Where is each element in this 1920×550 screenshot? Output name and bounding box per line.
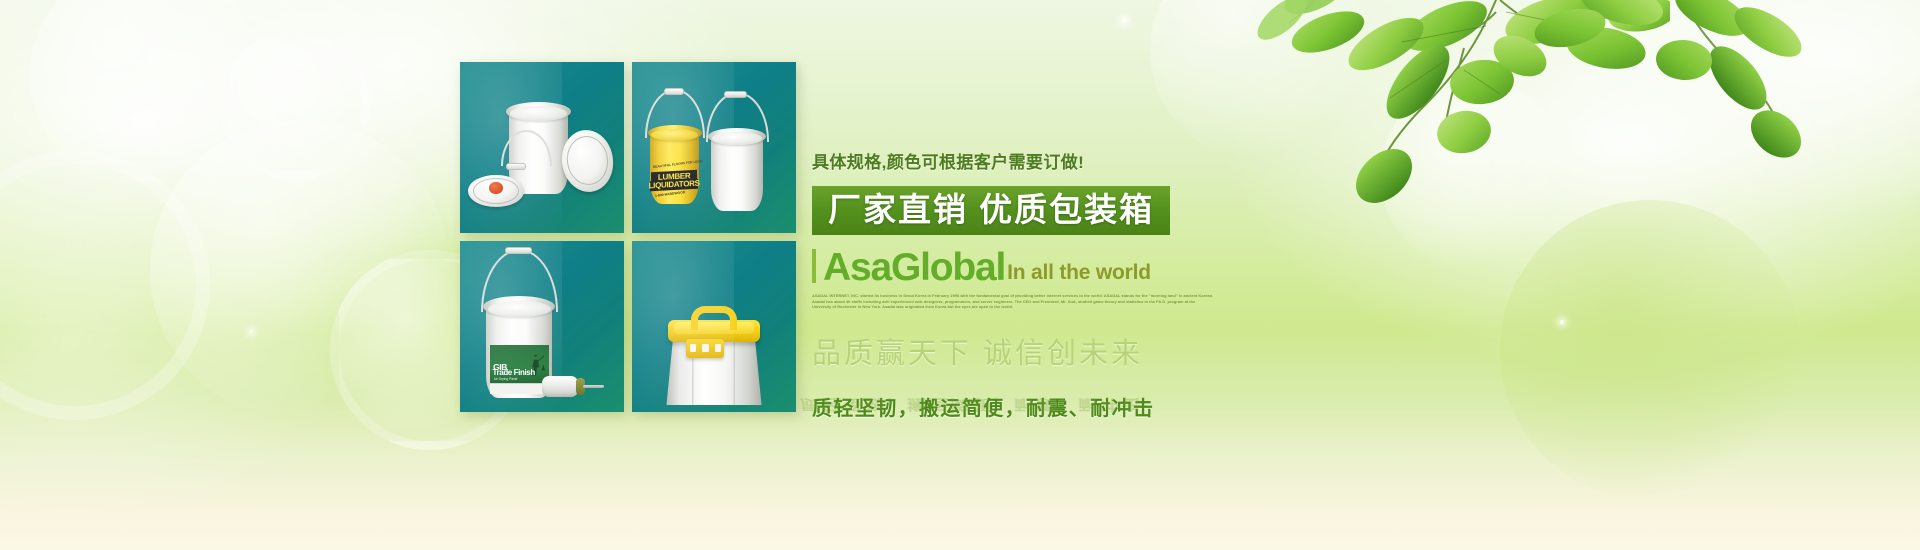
product-panel-open-pail-with-lids[interactable] bbox=[460, 62, 624, 233]
pail-opening bbox=[510, 106, 567, 121]
pail-brand-line2: LIQUIDATORS bbox=[649, 180, 700, 191]
panel-stage: BEAUTIFUL FLOORS FOR LESS! LUMBER LIQUID… bbox=[632, 62, 796, 233]
product-panel-gib-pail-with-roller[interactable]: GIB Trade Finish Air Drying Paste bbox=[460, 241, 624, 412]
brand-name-text: AsaGlobal bbox=[823, 250, 1005, 286]
feature-line-wrap: 质轻坚韧，搬运简便，耐震、耐冲击 质轻坚韧，搬运简便，耐震、耐冲击 bbox=[812, 392, 1452, 444]
brand-tagline-text: In all the world bbox=[1007, 262, 1151, 286]
pail-handle bbox=[706, 92, 769, 141]
tote-carry-handle bbox=[691, 306, 737, 330]
latch-slot bbox=[690, 344, 696, 352]
panel-stage bbox=[632, 241, 796, 412]
bokeh-ring bbox=[220, 30, 370, 180]
brand-accent-bar bbox=[812, 249, 816, 283]
handle-grip bbox=[724, 91, 747, 98]
marketing-copy-block: 具体规格,颜色可根据客户需要订做! 厂家直销 优质包装箱 AsaGlobal I… bbox=[812, 148, 1452, 444]
sparkle bbox=[1122, 18, 1127, 23]
tote-latch bbox=[686, 339, 724, 358]
white-pail bbox=[711, 134, 763, 211]
spec-note-text: 具体规格,颜色可根据客户需要订做! bbox=[812, 148, 1452, 173]
sparkle bbox=[250, 330, 253, 333]
handle-grip bbox=[506, 163, 526, 170]
red-spout-cap-icon bbox=[489, 182, 502, 194]
white-tote-box-yellow-lid bbox=[666, 306, 761, 405]
panel-stage bbox=[460, 62, 624, 233]
product-photo-grid: BEAUTIFUL FLOORS FOR LESS! LUMBER LIQUID… bbox=[460, 62, 796, 412]
headline-banner: 厂家直销 优质包装箱 bbox=[812, 186, 1170, 235]
promo-banner: BEAUTIFUL FLOORS FOR LESS! LUMBER LIQUID… bbox=[0, 0, 1920, 550]
brand-lockup: AsaGlobal In all the world bbox=[812, 249, 1452, 286]
handle-grip bbox=[664, 88, 685, 95]
company-about-paragraph: ASADAL INTERNET, INC. started its busine… bbox=[812, 293, 1214, 310]
sparkle bbox=[1560, 320, 1564, 324]
flat-lid-with-red-spout bbox=[468, 175, 524, 207]
bokeh-circle-green bbox=[1500, 200, 1800, 500]
gib-label-footer-strip bbox=[490, 383, 549, 394]
pail-handle bbox=[645, 89, 705, 138]
leaf-branch-icon bbox=[1530, 0, 1860, 174]
headline-text: 厂家直销 优质包装箱 bbox=[828, 193, 1154, 226]
pail-body bbox=[711, 134, 763, 211]
sparkle bbox=[300, 60, 305, 65]
handle-grip bbox=[505, 247, 533, 254]
latch-slot bbox=[715, 344, 721, 352]
gib-product-label: GIB Trade Finish Air Drying Paste bbox=[490, 345, 549, 383]
roller-nap bbox=[542, 376, 578, 397]
lid-inner-ring bbox=[563, 134, 611, 189]
feature-list-reflection: 质轻坚韧，搬运简便，耐震、耐冲击 bbox=[800, 395, 1142, 416]
yellow-pail: BEAUTIFUL FLOORS FOR LESS! LUMBER LIQUID… bbox=[650, 130, 699, 204]
product-panel-yellow-and-white-pails[interactable]: BEAUTIFUL FLOORS FOR LESS! LUMBER LIQUID… bbox=[632, 62, 796, 233]
pail-handle bbox=[481, 249, 558, 312]
latch-slot bbox=[702, 344, 708, 352]
roller-handle-rod bbox=[583, 385, 604, 388]
gib-subtitle-text: Air Drying Paste bbox=[494, 378, 518, 381]
product-panel-tote-box[interactable] bbox=[632, 241, 796, 412]
panel-stage: GIB Trade Finish Air Drying Paste bbox=[460, 241, 624, 412]
slogan-text: 品质赢天下 诚信创未来 bbox=[812, 330, 1452, 372]
